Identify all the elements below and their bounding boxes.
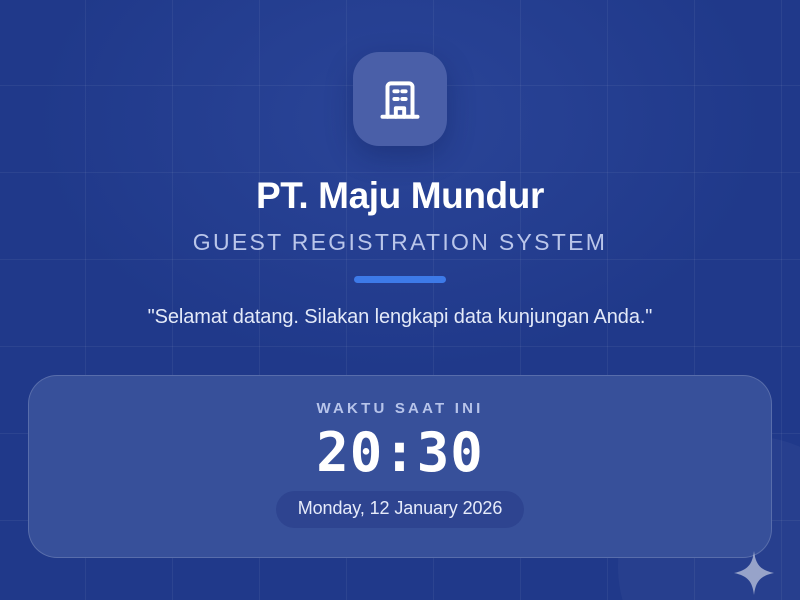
current-time-value: 20:30 — [316, 423, 484, 483]
welcome-quote: "Selamat datang. Silakan lengkapi data k… — [0, 306, 800, 329]
current-time-card: WAKTU SAAT INI 20:30 Monday, 12 January … — [28, 375, 772, 558]
current-time-label: WAKTU SAAT INI — [316, 400, 483, 417]
page-title: PT. Maju Mundur — [0, 176, 800, 216]
system-subtitle: GUEST REGISTRATION SYSTEM — [0, 229, 800, 256]
current-date-badge: Monday, 12 January 2026 — [276, 491, 525, 528]
header-block: PT. Maju Mundur GUEST REGISTRATION SYSTE… — [0, 0, 800, 329]
accent-divider — [354, 276, 446, 283]
guest-registration-welcome-screen: PT. Maju Mundur GUEST REGISTRATION SYSTE… — [0, 0, 800, 600]
company-logo-tile — [353, 52, 447, 146]
building-icon — [375, 74, 425, 124]
